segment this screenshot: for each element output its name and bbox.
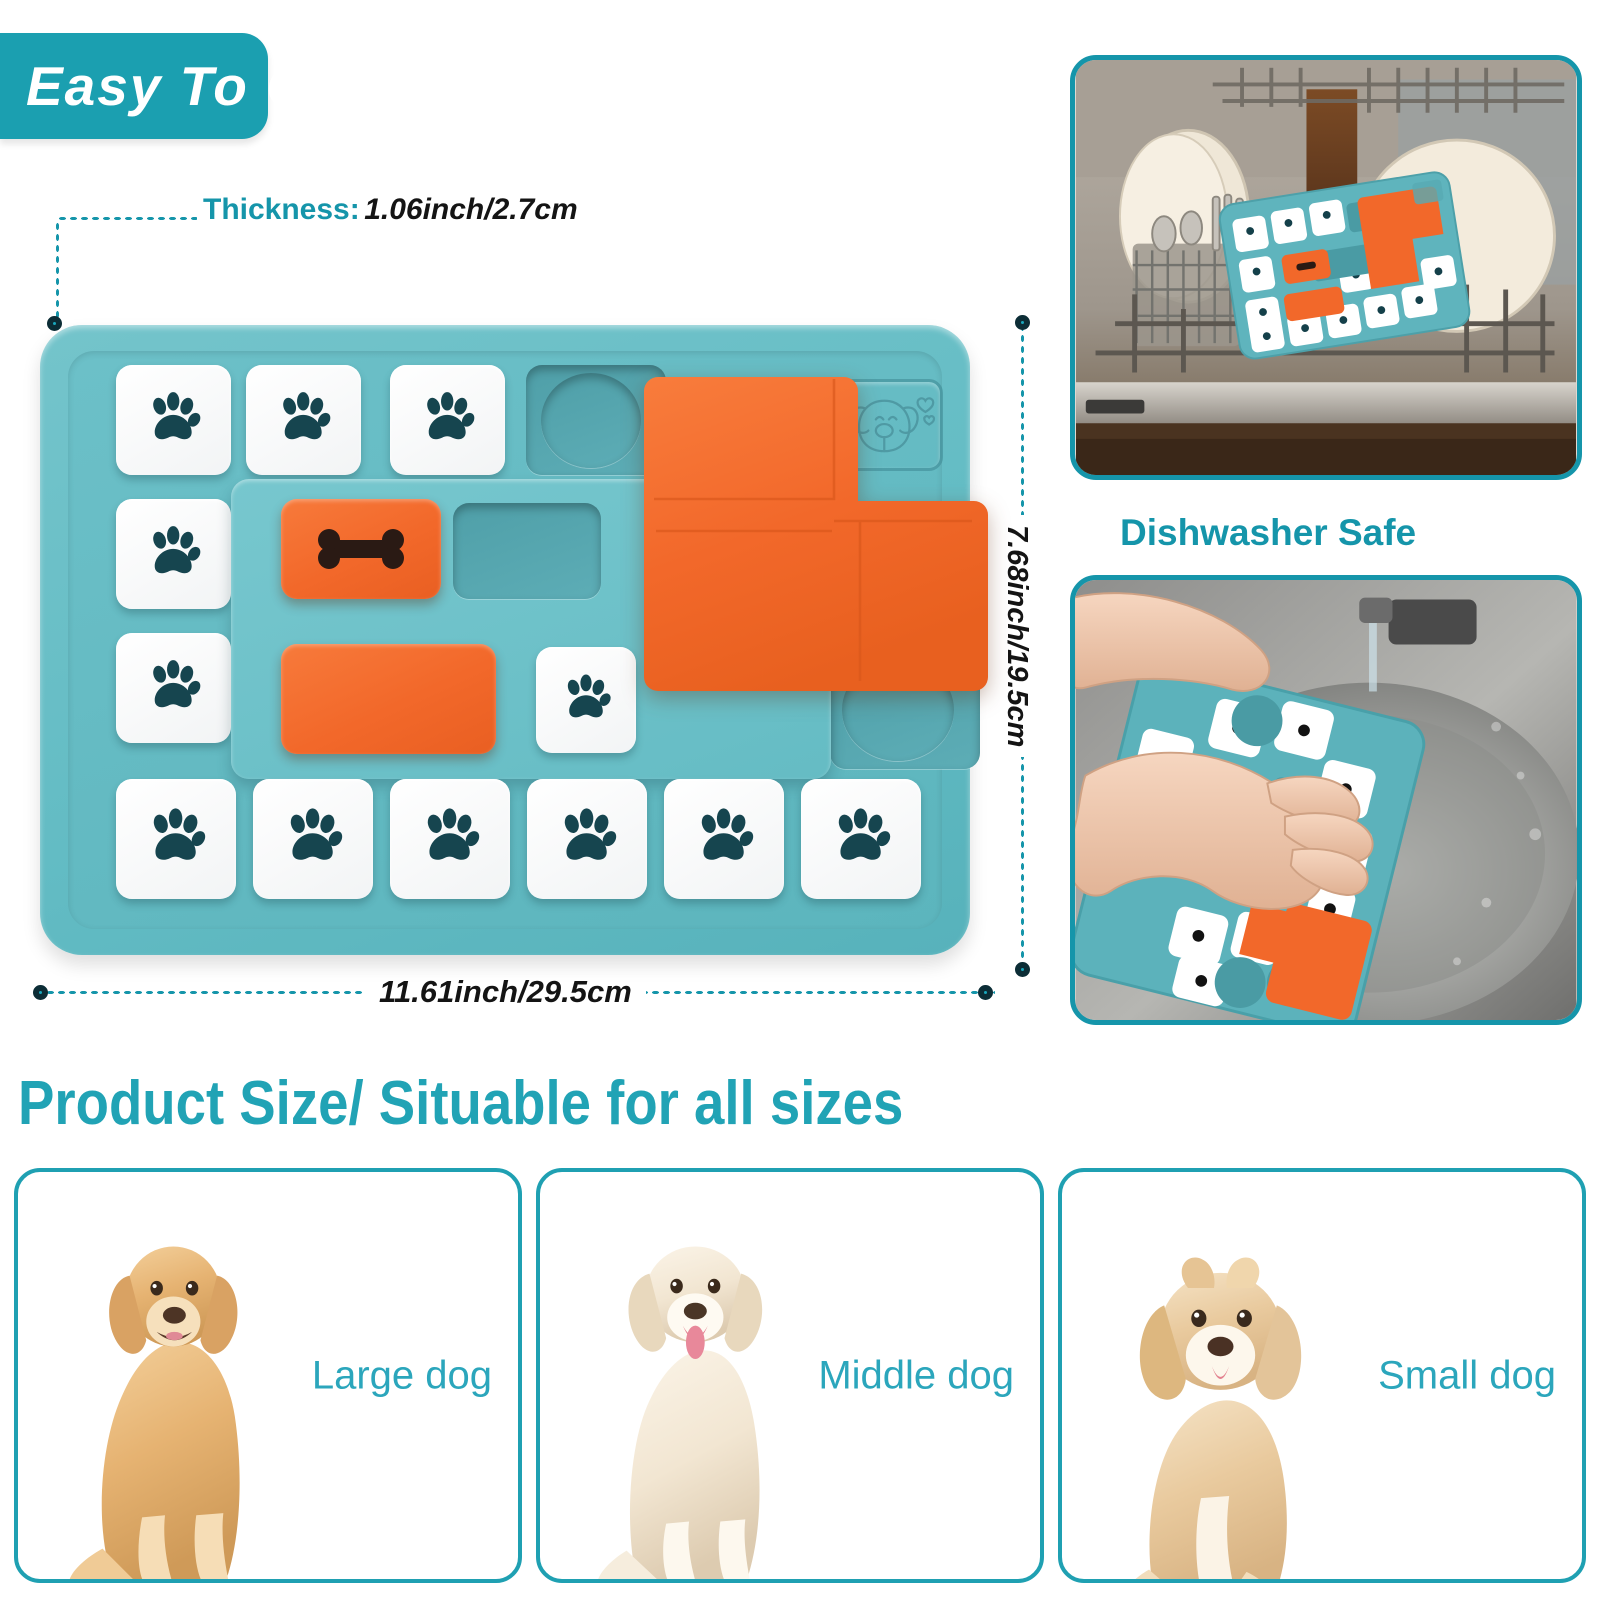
paw-tile[interactable] [116, 633, 231, 743]
width-endpoint-dot-right [978, 985, 993, 1000]
paw-print-icon [553, 805, 620, 872]
thickness-leader-vertical [55, 221, 60, 321]
height-endpoint-dot-bottom [1015, 962, 1030, 977]
banner-title: Easy To Clean [26, 54, 426, 118]
thickness-endpoint-dot [47, 316, 62, 331]
paw-tile[interactable] [116, 779, 236, 899]
product-size-section-title: Product Size/ Situable for all sizes [18, 1068, 903, 1139]
paw-print-icon [279, 805, 346, 872]
height-dimension-value: 7.68inch/19.5cm [1000, 515, 1033, 757]
paw-tile[interactable] [116, 499, 231, 609]
dishwasher-photo [1070, 55, 1582, 480]
paw-tile[interactable] [246, 365, 361, 475]
easy-to-clean-banner: Easy To Clean [0, 33, 268, 139]
paw-tile[interactable] [116, 365, 231, 475]
dog-size-card-small: Small dog [1058, 1168, 1586, 1583]
paw-print-icon [141, 523, 205, 585]
dog-size-label: Small dog [1378, 1353, 1556, 1398]
thickness-leader-horizontal [57, 216, 197, 221]
paw-print-icon [141, 389, 205, 451]
paw-print-icon [690, 805, 757, 872]
orange-rect-slider[interactable] [281, 644, 496, 754]
well-round-top [541, 373, 641, 468]
handwash-photo [1070, 575, 1582, 1025]
board-inner-tray [68, 351, 942, 929]
well-rect-subpanel [453, 503, 601, 599]
orange-bone-slider[interactable] [281, 499, 441, 599]
paw-print-icon [271, 389, 335, 451]
dog-size-card-middle: Middle dog [536, 1168, 1044, 1583]
paw-tile[interactable] [536, 647, 636, 753]
middle-dog-photo [562, 1184, 812, 1583]
paw-tile[interactable] [390, 365, 505, 475]
paw-print-icon [142, 805, 209, 872]
thickness-callout: Thickness: 1.06inch/2.7cm [203, 193, 578, 227]
dog-size-label: Middle dog [818, 1353, 1014, 1398]
paw-tile[interactable] [664, 779, 784, 899]
paw-print-icon [415, 389, 479, 451]
dog-size-label: Large dog [312, 1353, 492, 1398]
paw-print-icon [827, 805, 894, 872]
paw-tile[interactable] [390, 779, 510, 899]
dishwasher-safe-label: Dishwasher Safe [1120, 512, 1416, 554]
large-dog-photo [40, 1184, 290, 1583]
thickness-value: 1.06inch/2.7cm [364, 193, 577, 226]
bone-icon [281, 499, 441, 599]
paw-print-icon [416, 805, 483, 872]
width-endpoint-dot-left [33, 985, 48, 1000]
height-endpoint-dot-top [1015, 315, 1030, 330]
small-dog-photo [1084, 1184, 1344, 1583]
paw-print-icon [141, 657, 205, 719]
paw-tile[interactable] [801, 779, 921, 899]
dog-puzzle-board [40, 325, 970, 955]
paw-print-icon [558, 670, 614, 729]
dog-size-card-large: Large dog [14, 1168, 522, 1583]
paw-tile[interactable] [253, 779, 373, 899]
paw-tile[interactable] [527, 779, 647, 899]
orange-cross-slider[interactable] [638, 361, 988, 691]
thickness-label: Thickness: [203, 193, 360, 226]
width-dimension-value: 11.61inch/29.5cm [365, 974, 646, 1010]
